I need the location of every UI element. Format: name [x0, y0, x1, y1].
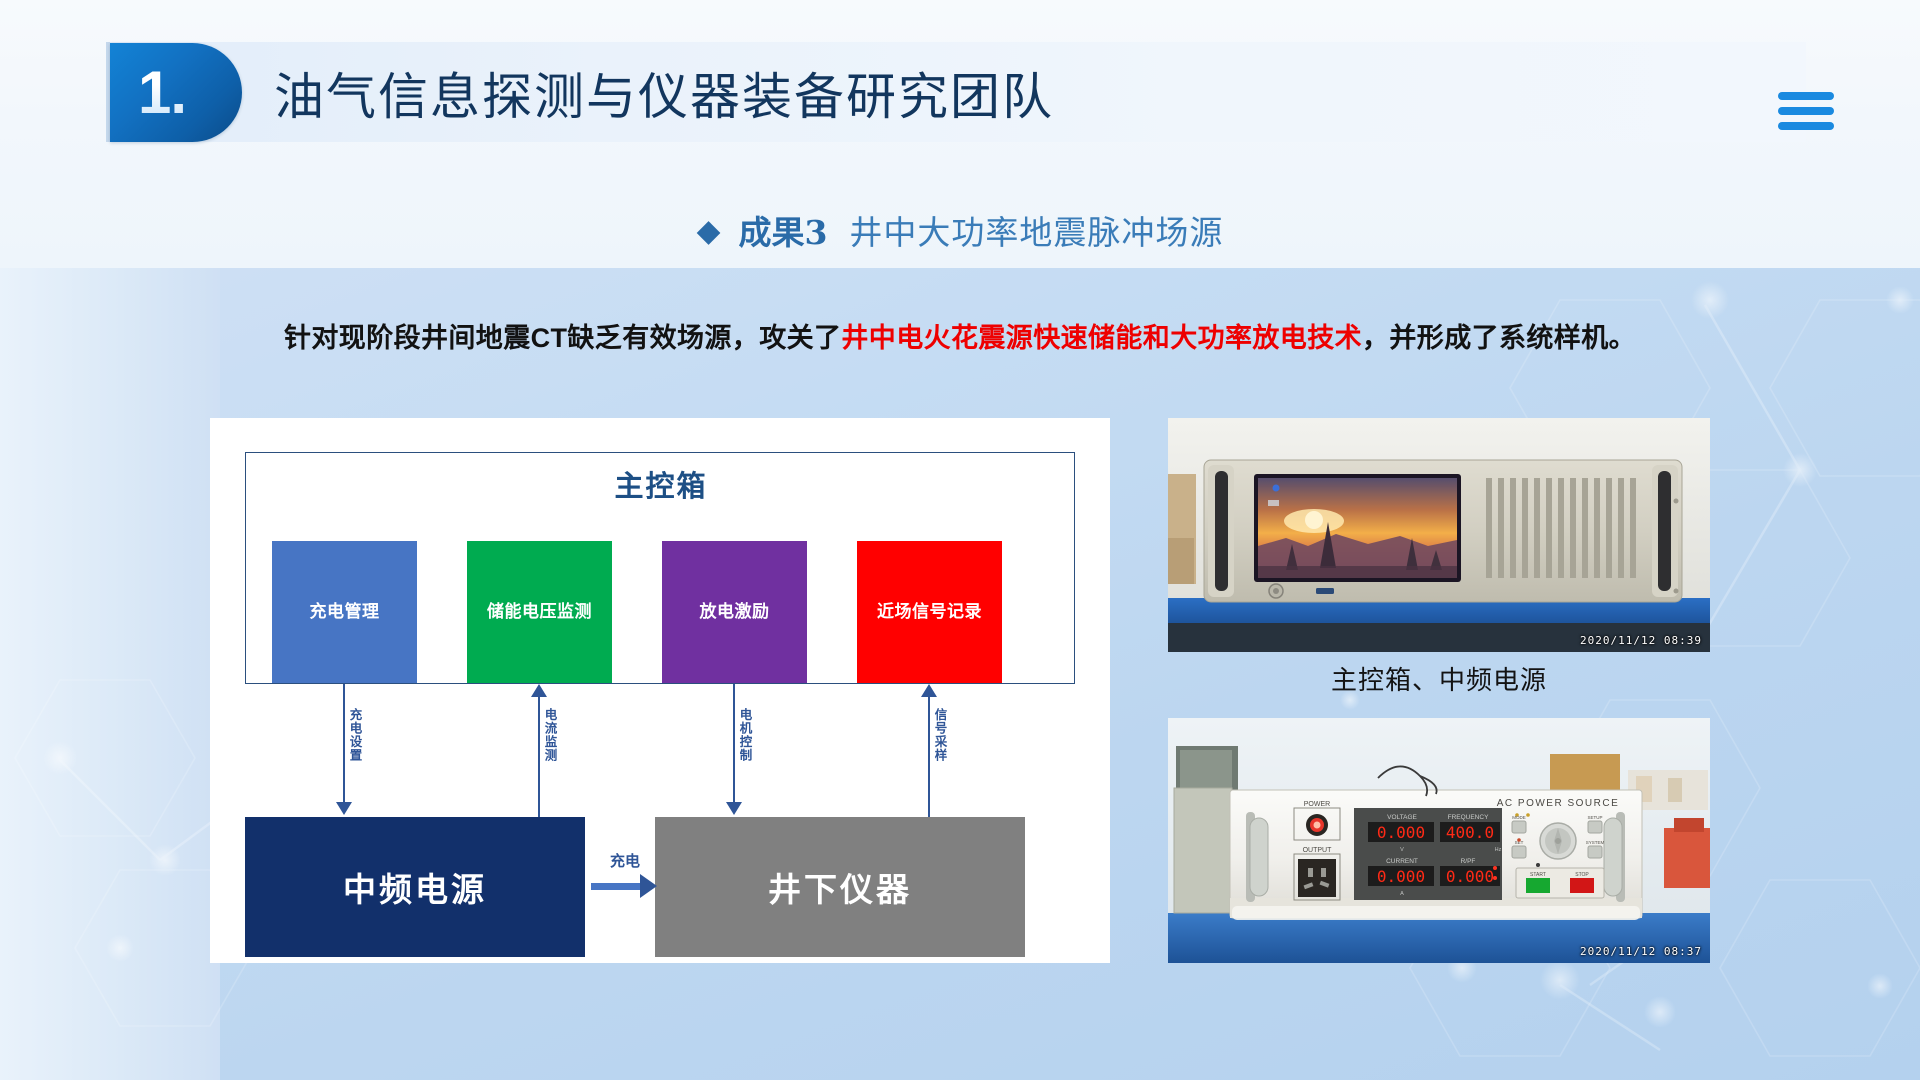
section-subtitle: ◆ 成果3 井中大功率地震脉冲场源	[0, 200, 1920, 260]
page-title: 油气信息探测与仪器装备研究团队	[274, 50, 1054, 136]
summary-part-2: ，并形成了系统样机。	[1362, 316, 1636, 355]
unit-label: 近场信号记录	[877, 602, 982, 622]
connector-arrowhead-3	[726, 802, 742, 815]
charge-link-arrowhead	[640, 874, 657, 898]
main-control-box-title: 主控箱	[246, 463, 1076, 505]
connector-arrowhead-2	[531, 684, 547, 697]
achievement-tag: 成果3	[738, 206, 827, 254]
svg-text:0.000: 0.000	[1446, 867, 1494, 886]
charge-link-label: 充电	[590, 850, 660, 871]
svg-text:START: START	[1530, 872, 1546, 878]
svg-text:400.0: 400.0	[1446, 823, 1494, 842]
svg-text:VOLTAGE: VOLTAGE	[1387, 814, 1417, 821]
svg-text:0.000: 0.000	[1377, 867, 1425, 886]
connector-arrowhead-4	[921, 684, 937, 697]
svg-text:AC POWER SOURCE: AC POWER SOURCE	[1497, 798, 1620, 809]
unit-label: 充电管理	[310, 602, 380, 622]
section-number-badge: 1.	[110, 43, 242, 142]
achievement-title: 井中大功率地震脉冲场源	[849, 206, 1223, 254]
connector-line-1	[343, 684, 345, 802]
unit-label: 放电激励	[700, 602, 770, 622]
hamburger-menu-icon[interactable]	[1778, 92, 1834, 130]
summary-highlight: 井中电火花震源快速储能和大功率放电技术	[841, 316, 1362, 355]
connector-label-charge-setting: 充电设置	[348, 708, 361, 762]
photo-timestamp: 2020/11/12 08:39	[1580, 634, 1702, 647]
hamburger-bar-2	[1778, 107, 1834, 115]
photo-timestamp: 2020/11/12 08:37	[1580, 945, 1702, 958]
connector-line-2	[538, 697, 540, 817]
photo-caption-1: 主控箱、中频电源	[1168, 660, 1710, 697]
hamburger-bar-3	[1778, 122, 1834, 130]
ac-power-source-photo: POWER OUTPUT VOLTAGE FREQUENCY 0.000 400…	[1168, 718, 1710, 963]
main-control-box-photo: 2020/11/12 08:39	[1168, 418, 1710, 652]
diagram-box-power-supply[interactable]: 中频电源	[245, 817, 585, 957]
svg-text:Hz: Hz	[1495, 847, 1502, 853]
connector-line-3	[733, 684, 735, 802]
diagram-unit-charge-management[interactable]: 充电管理	[272, 541, 417, 683]
diagram-box-downhole-instrument[interactable]: 井下仪器	[655, 817, 1025, 957]
section-number-text: 1.	[110, 43, 214, 142]
diagram-unit-discharge-trigger[interactable]: 放电激励	[662, 541, 807, 683]
diamond-bullet-icon: ◆	[697, 215, 721, 246]
svg-text:POWER: POWER	[1304, 801, 1330, 808]
connector-arrowhead-1	[336, 802, 352, 815]
slide-header: 1. 油气信息探测与仪器装备研究团队	[0, 0, 1920, 160]
svg-text:FREQUENCY: FREQUENCY	[1448, 814, 1489, 821]
unit-label: 储能电压监测	[487, 602, 592, 622]
connector-label-current-monitor: 电流监测	[543, 708, 556, 762]
svg-text:A: A	[1400, 891, 1404, 897]
svg-text:SETUP: SETUP	[1587, 815, 1602, 820]
hamburger-bar-1	[1778, 92, 1834, 100]
svg-text:CURRENT: CURRENT	[1386, 858, 1418, 865]
svg-text:0.000: 0.000	[1377, 823, 1425, 842]
svg-text:SYSTEM: SYSTEM	[1586, 840, 1605, 845]
box-label: 井下仪器	[768, 863, 912, 911]
connector-label-signal-sampling: 信号采样	[933, 708, 946, 762]
diagram-unit-nearfield-recorder[interactable]: 近场信号记录	[857, 541, 1002, 683]
system-block-diagram: 主控箱 充电管理 储能电压监测 放电激励 近场信号记录 充电设置 电流监测 电机…	[210, 418, 1110, 963]
charge-link-line	[591, 883, 643, 890]
svg-text:R/PF: R/PF	[1461, 858, 1476, 865]
diagram-unit-voltage-monitor[interactable]: 储能电压监测	[467, 541, 612, 683]
summary-part-1: 针对现阶段井间地震CT缺乏有效场源，攻关了	[284, 316, 841, 355]
svg-text:STOP: STOP	[1575, 872, 1589, 878]
connector-label-motor-control: 电机控制	[738, 708, 751, 762]
svg-text:V: V	[1400, 847, 1404, 853]
svg-text:MODE: MODE	[1512, 815, 1526, 820]
photo-column: 2020/11/12 08:39 主控箱、中频电源	[1168, 418, 1710, 963]
box-label: 中频电源	[343, 863, 487, 911]
svg-text:OUTPUT: OUTPUT	[1303, 847, 1333, 854]
connector-line-4	[928, 697, 930, 817]
main-control-box-group: 主控箱 充电管理 储能电压监测 放电激励 近场信号记录	[245, 452, 1075, 684]
summary-paragraph: 针对现阶段井间地震CT缺乏有效场源，攻关了 井中电火花震源快速储能和大功率放电技…	[0, 310, 1920, 360]
